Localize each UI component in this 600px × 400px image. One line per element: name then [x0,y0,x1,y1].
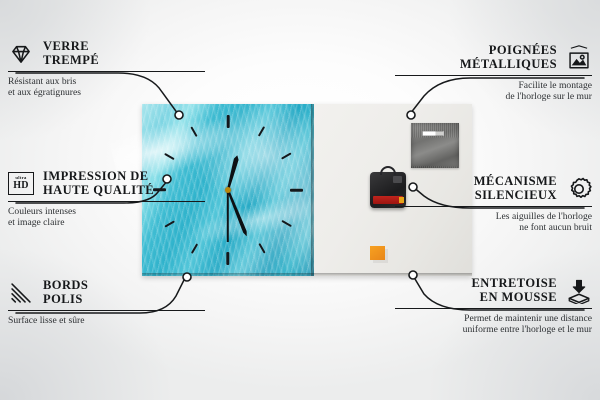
callout-verre-trempe: VERRE TREMPÉ Résistant aux bris et aux é… [8,40,223,99]
polished-edge-icon [8,280,34,306]
gear-icon [566,176,592,202]
callout-poignees-metalliques: POIGNÉES MÉTALLIQUES Facilite le montage… [377,44,592,103]
callout-title: VERRE TREMPÉ [43,40,99,67]
callout-rule [395,75,592,76]
clock-tick [227,115,230,128]
callout-bords-polis: BORDS POLIS Surface lisse et sûre [8,279,223,326]
clock-tick [281,152,292,160]
clock-tick [258,126,266,137]
callout-title: MÉCANISME SILENCIEUX [474,175,557,202]
callout-title: POIGNÉES MÉTALLIQUES [460,44,557,71]
callout-header: POIGNÉES MÉTALLIQUES [377,44,592,71]
callout-header: ultra HD IMPRESSION DE HAUTE QUALITÉ [8,170,223,197]
callout-impression-haute-qualite: ultra HD IMPRESSION DE HAUTE QUALITÉ Cou… [8,170,223,229]
clock-hand-pivot [225,187,231,193]
clock-tick [290,189,303,192]
ultra-hd-icon: ultra HD [8,172,34,195]
clock-tick [191,243,199,254]
clock-second-hand [227,190,229,242]
infographic-canvas: VERRE TREMPÉ Résistant aux bris et aux é… [0,0,600,400]
callout-rule [8,201,205,202]
callout-header: ENTRETOISE EN MOUSSE [377,277,592,304]
back-panel-edge-bottom [314,273,472,276]
callout-mecanisme-silencieux: MÉCANISME SILENCIEUX Les aiguilles de l'… [377,175,592,234]
clock-hour-hand [226,155,240,191]
clock-tick [281,220,292,228]
foam-spacer-pad [370,246,385,260]
callout-rule [8,71,205,72]
callout-title: BORDS POLIS [43,279,88,306]
foam-spacer-icon [566,278,592,304]
clock-tick [190,126,198,137]
callout-rule [395,206,592,207]
callout-entretoise-en-mousse: ENTRETOISE EN MOUSSE Permet de maintenir… [377,277,592,336]
hanger-slot [422,131,444,136]
mechanism-hanging-loop [380,166,396,175]
clock-tick [164,153,175,161]
clock-tick [227,252,230,265]
callout-rule [8,310,205,311]
metal-hanger-plate [411,123,459,168]
callout-header: BORDS POLIS [8,279,223,306]
callout-header: MÉCANISME SILENCIEUX [377,175,592,202]
clock-minute-hand [226,189,248,237]
panel-edge-bottom [142,273,314,276]
callout-title: IMPRESSION DE HAUTE QUALITÉ [43,170,154,197]
callout-rule [395,308,592,309]
clock-tick [258,243,266,254]
picture-frame-hanger-icon [566,45,592,71]
callout-header: VERRE TREMPÉ [8,40,223,67]
diamond-icon [8,41,34,67]
callout-title: ENTRETOISE EN MOUSSE [471,277,557,304]
